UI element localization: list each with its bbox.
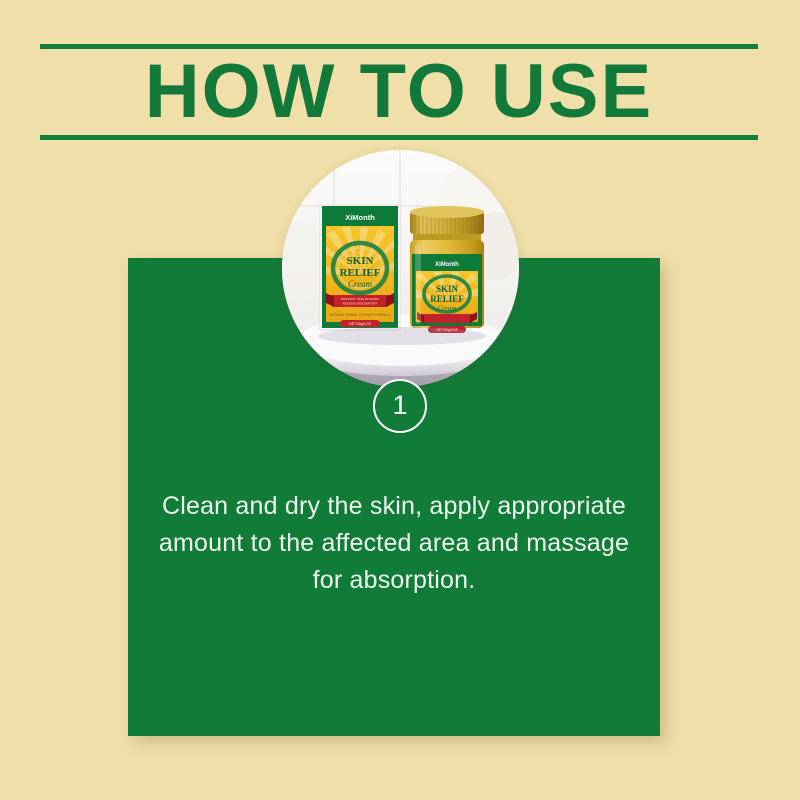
- svg-text:PROTECT SKIN MOISTEN: PROTECT SKIN MOISTEN: [341, 297, 379, 301]
- svg-text:XiMonth: XiMonth: [345, 213, 375, 222]
- svg-text:RELIEF: RELIEF: [430, 294, 464, 304]
- product-box: XiMonth SKIN RELIEF Cream: [320, 205, 400, 330]
- product-photo: XiMonth SKIN RELIEF Cream: [282, 150, 519, 387]
- step-number-badge: 1: [373, 379, 427, 433]
- svg-text:RELIEF: RELIEF: [340, 267, 381, 279]
- svg-text:RELIEVE DISCOMFORT: RELIEVE DISCOMFORT: [343, 302, 378, 306]
- svg-text:XiMonth: XiMonth: [435, 262, 459, 268]
- svg-text:NET:30g/1OZ: NET:30g/1OZ: [349, 322, 372, 326]
- svg-text:NATURAL HERBAL EXTRACT FORMULA: NATURAL HERBAL EXTRACT FORMULA: [330, 313, 391, 317]
- product-photo-illustration: XiMonth SKIN RELIEF Cream: [282, 150, 519, 387]
- product-jar: XiMonth SKIN RELIEF Cream NET:30g/1OZ: [410, 206, 484, 333]
- header-bottom-rule: [40, 135, 758, 140]
- page-title: HOW TO USE: [40, 50, 758, 134]
- page-header: HOW TO USE: [40, 44, 758, 140]
- svg-text:Cream: Cream: [438, 305, 457, 313]
- svg-text:SKIN: SKIN: [436, 284, 459, 294]
- svg-text:SKIN: SKIN: [347, 255, 374, 267]
- step-instruction-text: Clean and dry the skin, apply appropriat…: [128, 488, 660, 599]
- svg-text:Cream: Cream: [348, 279, 373, 289]
